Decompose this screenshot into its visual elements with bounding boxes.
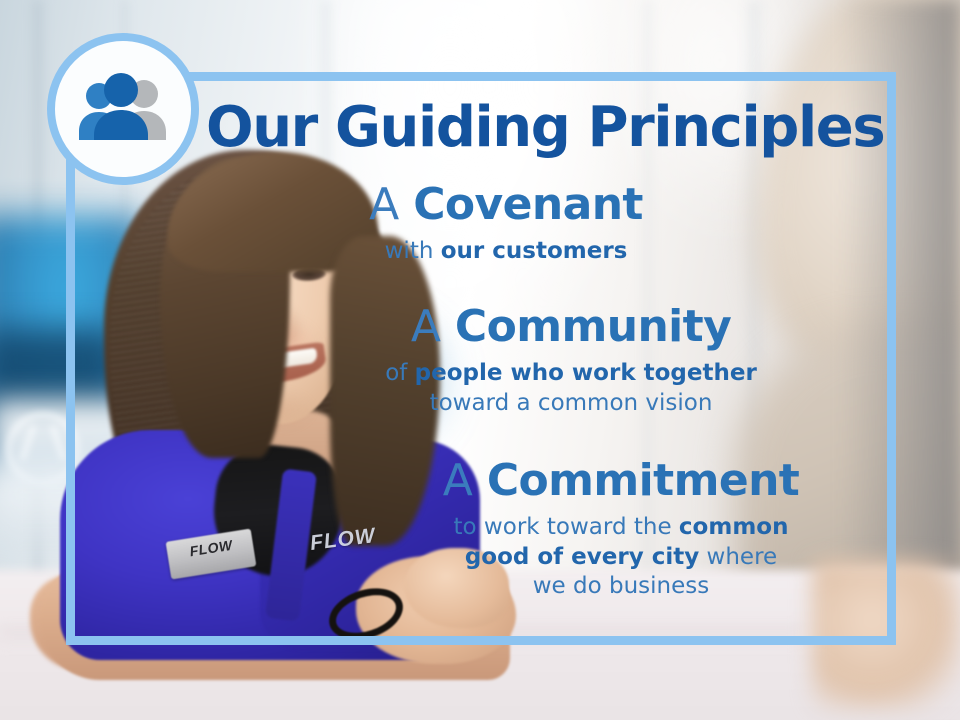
principle-commitment: A Commitment to work toward the common g… bbox=[66, 458, 896, 602]
principle-keyword: Covenant bbox=[413, 179, 643, 230]
subline-part: with bbox=[385, 238, 441, 264]
guiding-principles-graphic: FLOW FLOW Our Guiding Principles A bbox=[0, 0, 960, 720]
subline-part: toward a common vision bbox=[430, 390, 713, 416]
subline-part: of bbox=[385, 360, 414, 386]
principle-subline: toward a common vision bbox=[246, 389, 896, 418]
principle-article: A bbox=[443, 455, 473, 506]
principle-article: A bbox=[411, 301, 441, 352]
subline-part: we do business bbox=[533, 573, 710, 599]
principles-content: Our Guiding Principles A Covenant with o… bbox=[66, 72, 896, 645]
subline-part-bold: our customers bbox=[441, 238, 628, 264]
principle-subtext: of people who work together toward a com… bbox=[66, 359, 896, 418]
principle-subtext: with our customers bbox=[66, 237, 896, 266]
subline-part: to work toward the bbox=[454, 514, 679, 540]
principle-subline: of people who work together bbox=[246, 359, 896, 388]
subline-part: where bbox=[699, 544, 777, 570]
principle-keyword: Commitment bbox=[487, 455, 799, 506]
principle-keyword: Community bbox=[455, 301, 731, 352]
principle-community: A Community of people who work together … bbox=[66, 304, 896, 418]
principle-heading: A Covenant bbox=[66, 182, 896, 228]
principle-covenant: A Covenant with our customers bbox=[66, 182, 896, 267]
principle-subline: we do business bbox=[346, 572, 896, 601]
subline-part-bold: people who work together bbox=[415, 360, 757, 386]
principle-article: A bbox=[369, 179, 399, 230]
principle-subline: good of every city where bbox=[346, 543, 896, 572]
principle-subline: with our customers bbox=[116, 237, 896, 266]
principle-heading: A Commitment bbox=[66, 458, 896, 504]
subline-part-bold: common bbox=[679, 514, 789, 540]
principle-subtext: to work toward the common good of every … bbox=[66, 513, 896, 601]
page-title: Our Guiding Principles bbox=[206, 100, 866, 156]
principle-heading: A Community bbox=[66, 304, 896, 350]
subline-part-bold: good of every city bbox=[465, 544, 699, 570]
principle-subline: to work toward the common bbox=[346, 513, 896, 542]
